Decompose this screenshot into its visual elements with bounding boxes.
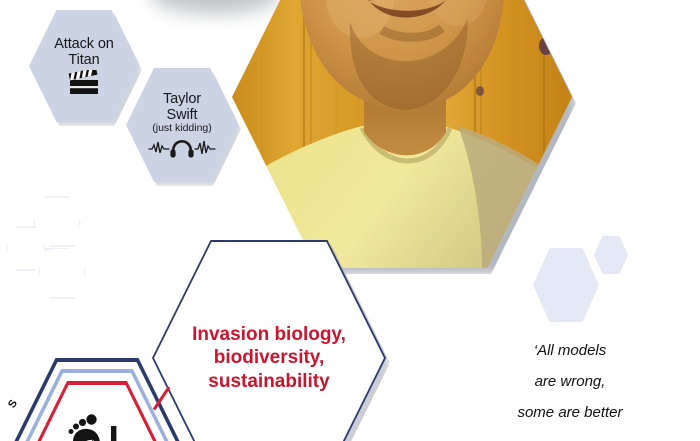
tag-label-line2: Swift [167,107,198,123]
tag-label-line1: Taylor [163,91,201,107]
topic-text: Invasion biology, biodiversity, sustaina… [168,323,370,393]
topic-hexagon-border: Invasion biology, biodiversity, sustaina… [152,240,386,441]
quote-block: ‘All models are wrong, some are better [452,336,688,428]
tag-hexagon-taylor-swift[interactable]: Taylor Swift (just kidding) [126,68,238,182]
portrait-photo-image [232,0,572,268]
tag-label-line2: Titan [68,52,99,68]
tag-label-subtitle: (just kidding) [152,123,212,135]
clapperboard-icon [67,70,101,96]
headphones-waveform-icon [148,137,216,159]
decorative-hexagon-outline-3 [38,245,86,299]
topic-line-1: Invasion biology, [192,324,346,345]
tag-hexagon-attack-on-titan[interactable]: Attack on Titan [29,10,139,122]
topic-line-3: sustainability [208,371,329,392]
slide-canvas: Attack on Titan [0,0,700,441]
tag-label-line1: Attack on [54,36,114,52]
quote-line-3: some are better [452,398,688,429]
decorative-hexagon-filled-2 [594,236,628,274]
sustainability-footprint-hexagon[interactable] [14,358,180,441]
portrait-hexagon [232,0,572,268]
quote-line-1: ‘All models [452,336,688,367]
eco-footprint-down-arrow-icon [64,410,130,441]
quote-line-2: are wrong, [452,367,688,398]
topic-line-2: biodiversity, [214,347,325,368]
portrait-photo [232,0,572,268]
topic-hexagon-body: Invasion biology, biodiversity, sustaina… [154,242,384,441]
topic-hexagon: Invasion biology, biodiversity, sustaina… [152,240,386,441]
